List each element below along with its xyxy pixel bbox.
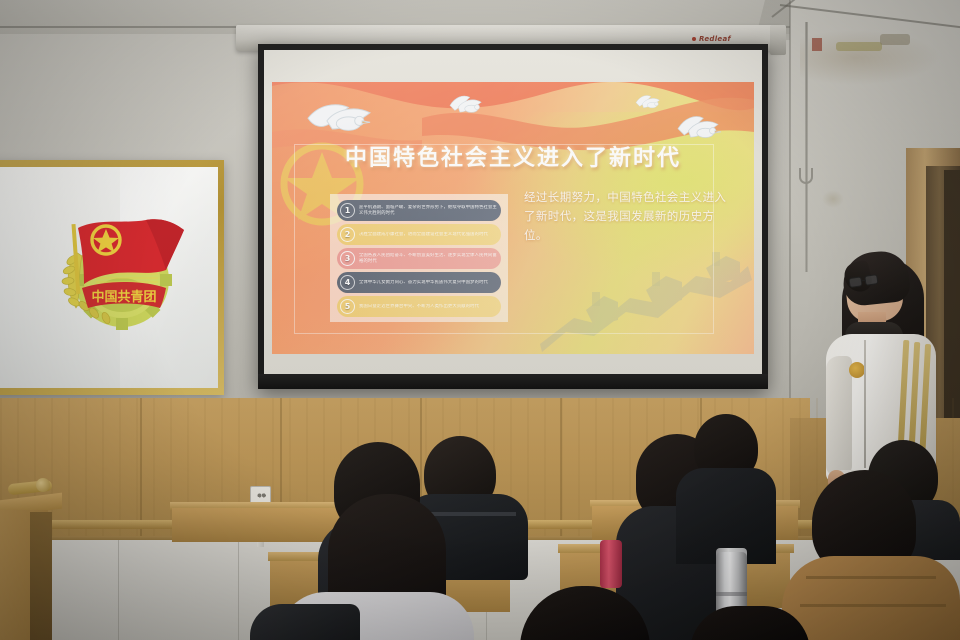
presentation-slide: 中国特色社会主义进入了新时代 1 迎平机遇期、面临严峻、复杂的世界形势下，继续夺… [272,82,754,354]
list-item: 1 迎平机遇期、面临严峻、复杂的世界形势下，继续夺取中国特色社会主义伟大胜利的时… [337,200,501,221]
list-item: 3 全国各族人民团结奋斗、不断创造美好生活、逐步实现全体人民共同富裕的时代 [337,248,501,269]
list-item-text: 迎平机遇期、面临严峻、复杂的世界形势下，继续夺取中国特色社会主义伟大胜利的时代 [359,205,501,217]
jacket-seam [806,576,936,579]
floor-tile-seam [118,540,119,640]
wall-mark-olive [836,42,882,51]
list-item-text: 决胜全面建成小康社会，进而全面建设社会主义现代化强国的时代 [359,232,492,238]
thermos-band [716,592,747,596]
list-item-number: 3 [340,251,355,266]
jacket-seam [800,604,946,607]
presenter-arm [826,356,852,476]
list-item-number: 2 [340,227,355,242]
screen-housing-endcap [770,25,786,55]
brand-text: Redleaf [699,35,731,43]
pink-cup [600,540,622,588]
emblem-banner-text: 中国共青团 [91,289,156,305]
screen-pull-rod[interactable] [805,22,808,272]
slide-paragraph: 经过长期努力，中国特色社会主义进入了新时代，这是我国发展新的历史方位。 [524,188,730,245]
list-item [250,604,360,640]
wall-mark-red [812,38,822,51]
outlet-socket-icon [255,491,268,502]
list-item-number: 5 [340,299,355,314]
list-item-text: 全国各族人民团结奋斗、不断创造美好生活、逐步实现全体人民共同富裕的时代 [359,253,501,265]
pull-rod-hook-icon[interactable] [799,168,813,184]
slide-numbered-list: 1 迎平机遇期、面临严峻、复杂的世界形势下，继续夺取中国特色社会主义伟大胜利的时… [330,194,508,322]
jacket-logo-icon [849,362,865,378]
classroom-scene: Redleaf [0,0,960,640]
projector-brand-label: Redleaf [692,33,766,44]
list-item [782,556,960,640]
glasses-lens-left [848,276,862,288]
slide-title: 中国特色社会主义进入了新时代 [272,140,754,172]
list-item-number: 4 [340,275,355,290]
glasses-lens-right [864,274,878,286]
list-item: 2 决胜全面建成小康社会，进而全面建设社会主义现代化强国的时代 [337,224,501,245]
list-item: 4 全体中华儿女戮力同心、奋力实现中华民族伟大复兴中国梦的时代 [337,272,501,293]
podium-knob-icon [36,478,50,492]
floor-tile-seam [238,540,239,640]
wall-smudge [822,190,844,208]
wall-mark-brown [880,34,910,45]
list-item: 5 我国日益走近世界舞台中央、不断为人类作出更大贡献的时代 [337,296,501,317]
list-item-text: 我国日益走近世界舞台中央、不断为人类作出更大贡献的时代 [359,304,483,310]
brand-dot-icon [692,37,696,41]
list-item-text: 全体中华儿女戮力同心、奋力实现中华民族伟大复兴中国梦的时代 [359,280,492,286]
podium-side [30,512,52,640]
jacket-zipper [864,340,866,468]
communist-youth-league-emblem: 中国共青团 [46,200,198,332]
list-item-number: 1 [340,203,355,218]
screen-bottom-weight-bar [258,374,768,389]
